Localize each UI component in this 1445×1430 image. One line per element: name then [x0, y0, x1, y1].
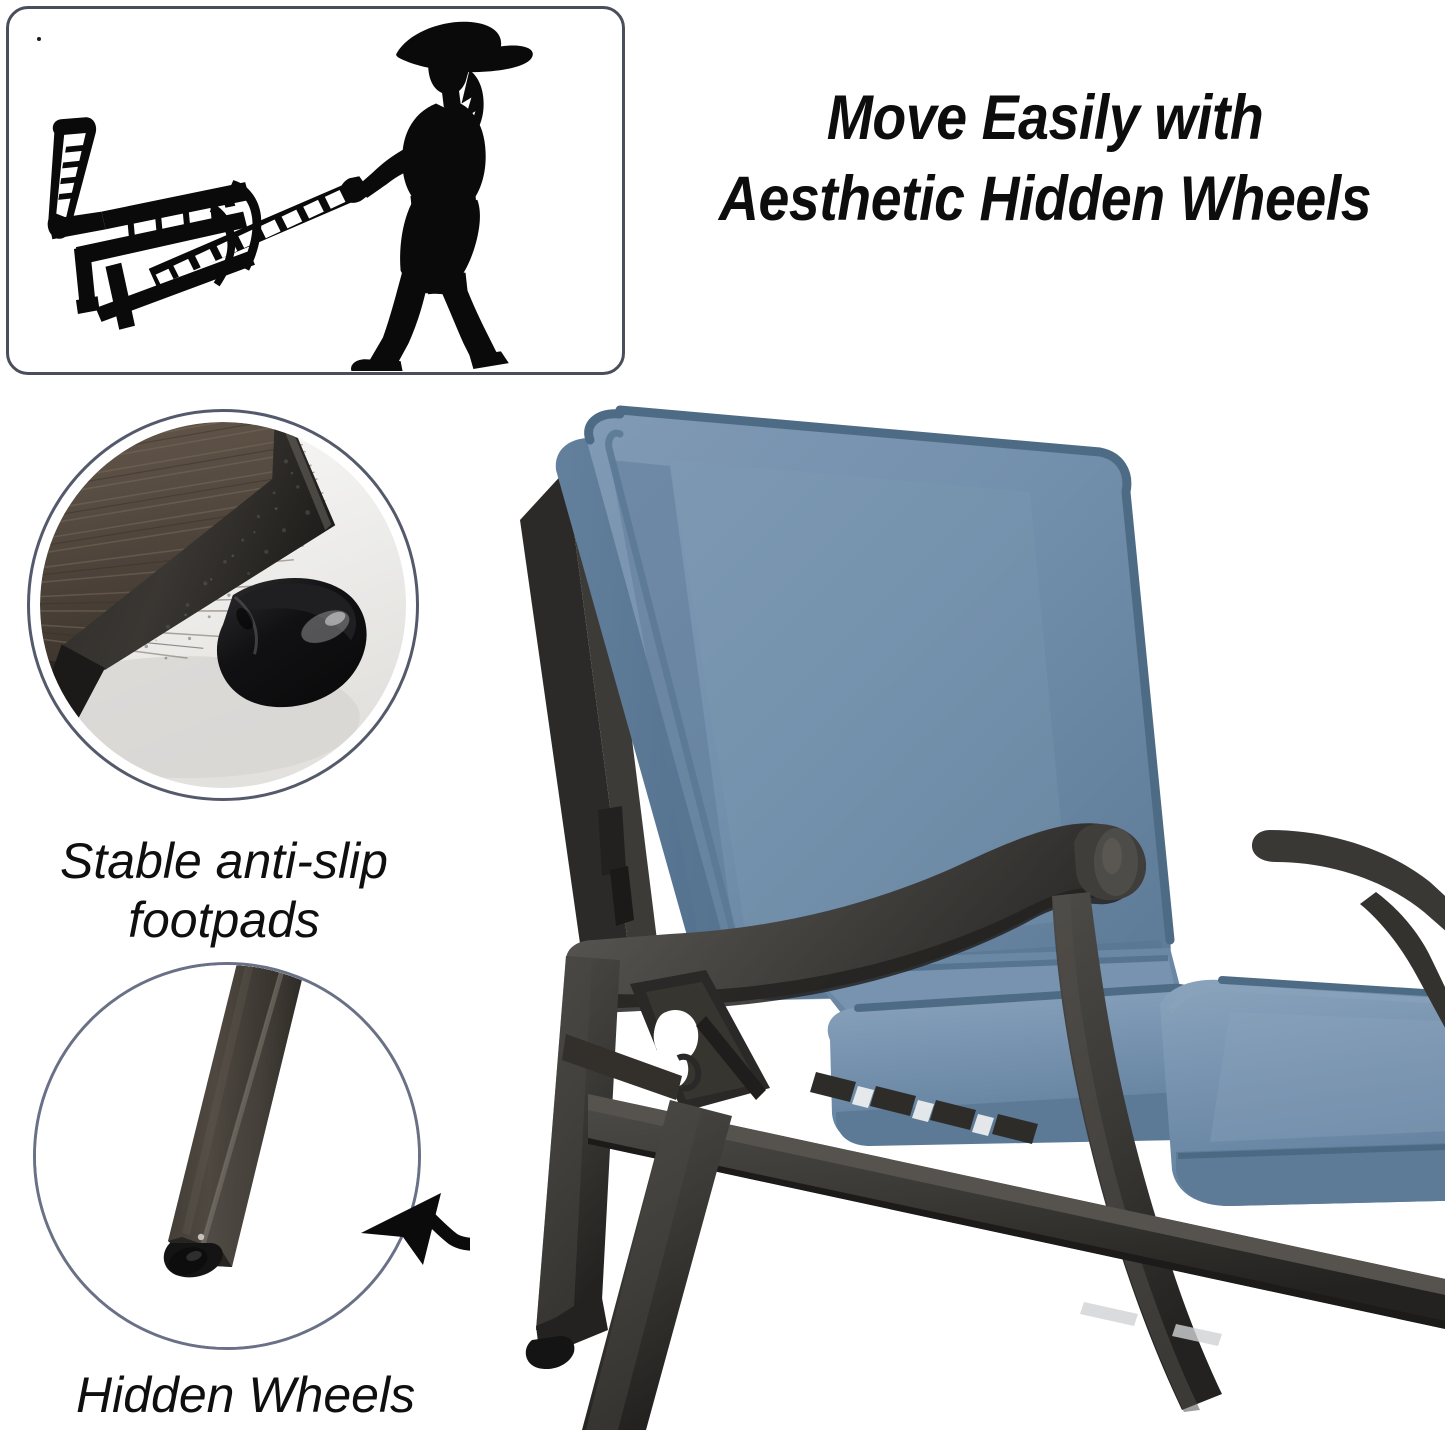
patio-chaise-lounge-illustration: [470, 400, 1445, 1430]
page-title: Move Easily with Aesthetic Hidden Wheels: [697, 78, 1392, 239]
product-image: [470, 400, 1445, 1430]
woman-pulling-chaise-silhouette-icon: [9, 9, 622, 372]
hidden-wheels-caption-line-1: Hidden Wheels: [76, 1367, 415, 1423]
headline-line-2: Aesthetic Hidden Wheels: [697, 159, 1392, 240]
hidden-wheels-caption: Hidden Wheels: [24, 1366, 424, 1425]
headline-line-1: Move Easily with: [697, 78, 1392, 159]
footpads-caption-line-1: Stable anti-slip: [60, 833, 388, 889]
footpad-closeup-illustration: [40, 422, 406, 788]
callout-footpads: [27, 409, 419, 801]
footpads-caption-line-2: footpads: [128, 892, 320, 948]
infographic-canvas: Move Easily with Aesthetic Hidden Wheels: [0, 0, 1445, 1430]
silhouette-panel: [6, 6, 625, 375]
footpads-caption: Stable anti-slip footpads: [24, 832, 424, 950]
footpad-photo: [40, 422, 406, 788]
